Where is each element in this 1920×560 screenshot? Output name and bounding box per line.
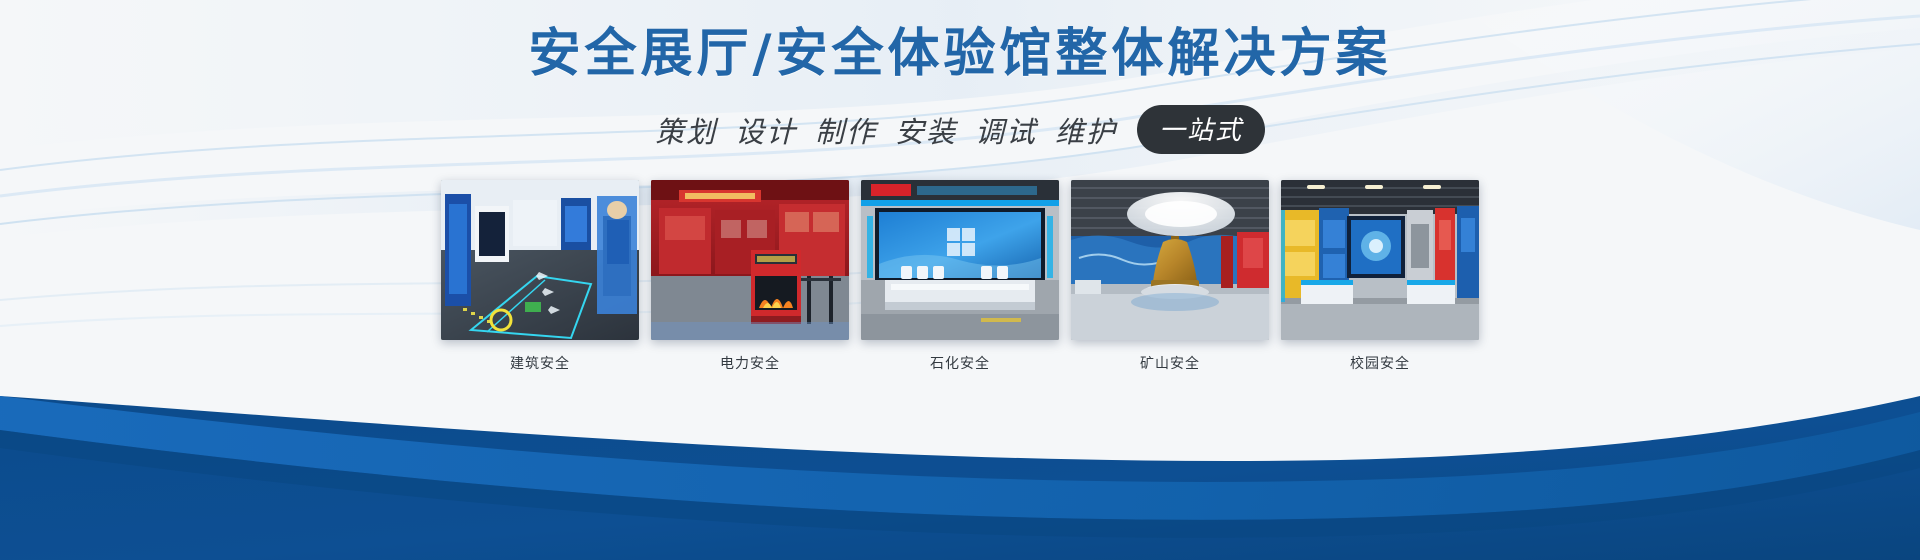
exhibition-card-mining[interactable]: 矿山安全 <box>1071 180 1269 373</box>
exhibition-card-list: 建筑安全 <box>0 180 1920 373</box>
subtitle-word-5: 调试 <box>975 109 1037 151</box>
card-caption-petrochemical: 石化安全 <box>861 353 1059 373</box>
card-caption-construction: 建筑安全 <box>441 353 639 373</box>
one-stop-badge: 一站式 <box>1137 105 1265 154</box>
banner-content: 安全展厅/安全体验馆整体解决方案 策划 设计 制作 安装 调试 维护 一站式 <box>0 0 1920 373</box>
card-caption-power: 电力安全 <box>651 353 849 373</box>
subtitle-word-4: 安装 <box>895 109 957 151</box>
subtitle-word-3: 制作 <box>815 109 877 151</box>
card-caption-campus: 校园安全 <box>1281 353 1479 373</box>
construction-safety-thumbnail[interactable] <box>441 180 639 340</box>
page-title: 安全展厅/安全体验馆整体解决方案 <box>0 22 1920 87</box>
card-caption-mining: 矿山安全 <box>1071 353 1269 373</box>
power-safety-thumbnail[interactable] <box>651 180 849 340</box>
exhibition-card-campus[interactable]: 校园安全 <box>1281 180 1479 373</box>
petrochemical-safety-thumbnail[interactable] <box>861 180 1059 340</box>
exhibition-card-petrochemical[interactable]: 石化安全 <box>861 180 1059 373</box>
exhibition-card-power[interactable]: 电力安全 <box>651 180 849 373</box>
subtitle-row: 策划 设计 制作 安装 调试 维护 一站式 <box>0 105 1920 154</box>
banner-root: 安全展厅/安全体验馆整体解决方案 策划 设计 制作 安装 调试 维护 一站式 <box>0 0 1920 560</box>
mining-safety-thumbnail[interactable] <box>1071 180 1269 340</box>
campus-safety-thumbnail[interactable] <box>1281 180 1479 340</box>
subtitle-word-6: 维护 <box>1055 109 1117 151</box>
subtitle-word-1: 策划 <box>655 109 717 151</box>
subtitle-word-2: 设计 <box>735 109 797 151</box>
exhibition-card-construction[interactable]: 建筑安全 <box>441 180 639 373</box>
